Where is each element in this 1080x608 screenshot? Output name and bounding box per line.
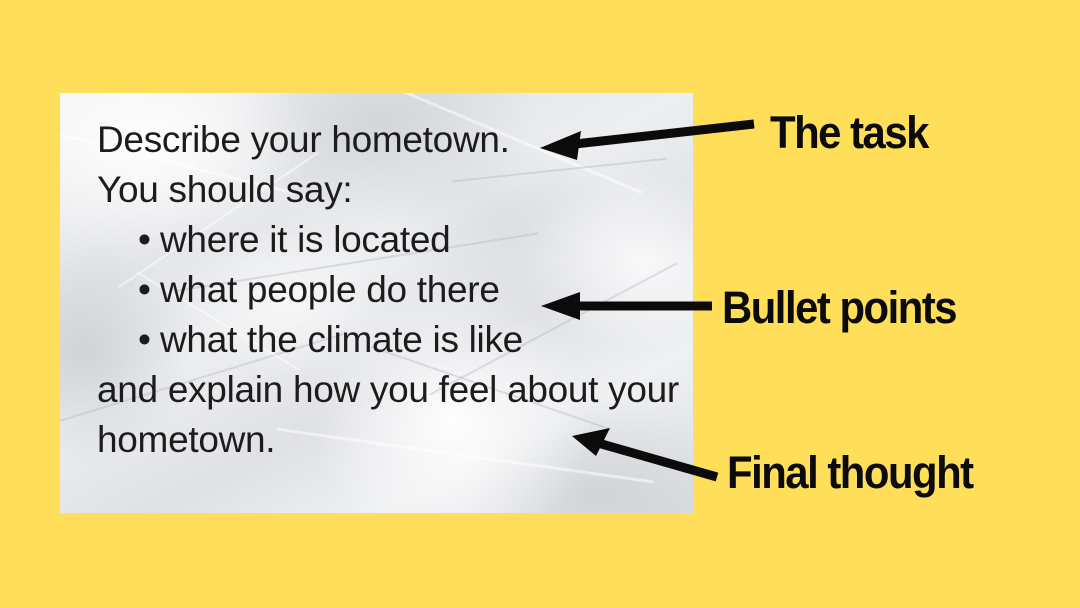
callout-label-bullet-points: Bullet points (722, 285, 956, 330)
callout-label-final-thought: Final thought (727, 450, 973, 495)
callout-label-task: The task (770, 110, 928, 155)
arrow-left-icon-task (540, 124, 754, 160)
arrow-left-icon-bullets (541, 292, 712, 320)
slide-canvas: Describe your hometown. You should say: … (0, 0, 1080, 608)
arrow-left-icon-final (572, 428, 717, 477)
